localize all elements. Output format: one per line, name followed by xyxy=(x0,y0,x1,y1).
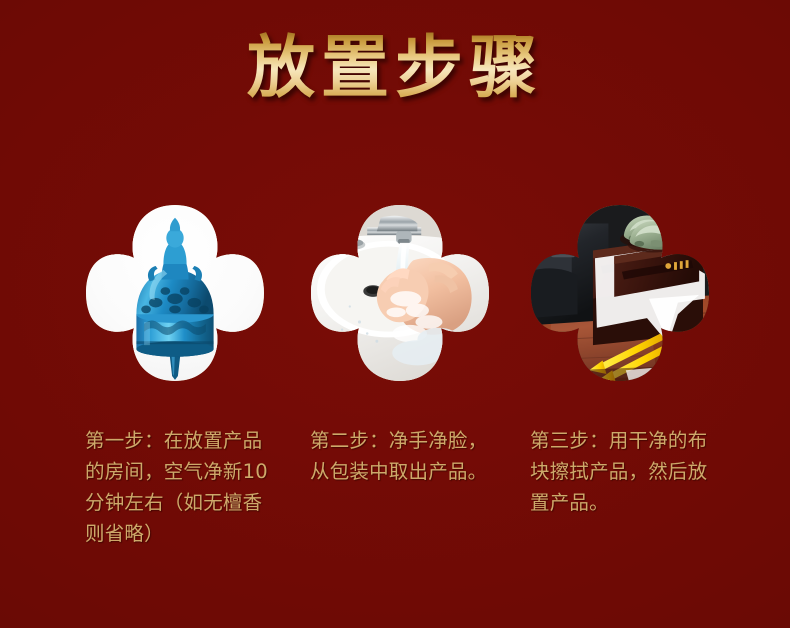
page-title: 放置步骤 xyxy=(247,30,543,106)
step-image-frame-3 xyxy=(530,203,710,383)
washing-hands-faucet-photo xyxy=(310,203,490,383)
step-image-frame-2 xyxy=(310,203,490,383)
promo-page: 放置步骤 xyxy=(0,0,790,628)
step-image-frame-1 xyxy=(85,203,265,383)
step-caption-1: 第一步：在放置产品的房间，空气净新10分钟左右（如无檀香则省略） xyxy=(85,425,271,549)
jade-ornament-on-cabinet-photo xyxy=(530,203,710,383)
blue-glass-incense-burner-photo xyxy=(85,203,265,383)
step-caption-2: 第二步：净手净脸，从包装中取出产品。 xyxy=(310,425,500,487)
step-caption-3: 第三步：用干净的布块擦拭产品，然后放置产品。 xyxy=(530,425,726,518)
page-title-container: 放置步骤 xyxy=(0,30,790,122)
